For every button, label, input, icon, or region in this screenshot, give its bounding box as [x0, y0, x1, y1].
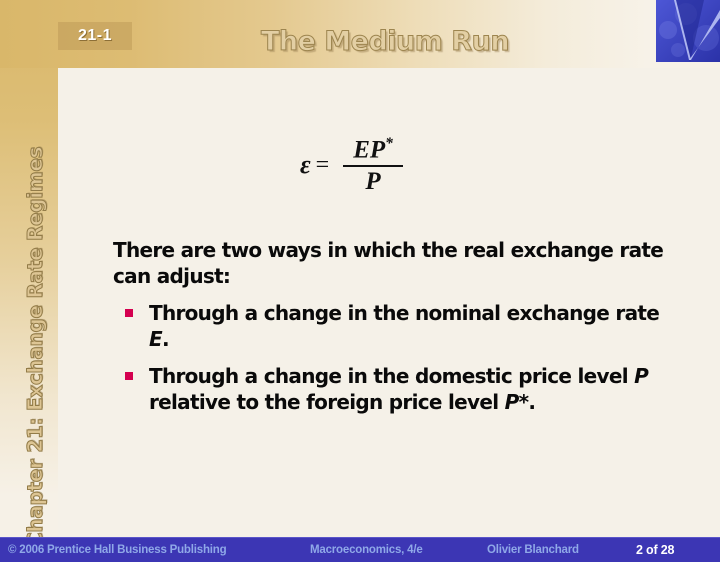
formula-denominator: P	[355, 167, 390, 195]
sidebar-chapter-label: Chapter 21: Exchange Rate Regimes	[23, 77, 47, 547]
slide-canvas: 21-1 The Medium Run Chapter 21: Exchange…	[0, 0, 720, 562]
footer-copyright: © 2006 Prentice Hall Business Publishing	[8, 544, 226, 556]
slide-footer: © 2006 Prentice Hall Business Publishing…	[0, 537, 720, 562]
formula-fraction: EP* P	[343, 136, 403, 195]
bullet-2-italic-P-star: P*	[505, 390, 529, 414]
formula-epsilon-symbol: ε	[300, 150, 311, 180]
bullet-list: Through a change in the nominal exchange…	[113, 300, 673, 416]
bullet-1-text-before: Through a change in the nominal exchange…	[149, 301, 659, 325]
square-bullet-icon	[125, 372, 133, 380]
formula-numerator: EP*	[343, 136, 403, 165]
chapter-badge-label: 21-1	[78, 27, 112, 45]
real-exchange-rate-formula: ε = EP* P	[300, 136, 403, 195]
slide-body: There are two ways in which the real exc…	[113, 237, 673, 425]
chapter-badge: 21-1	[58, 22, 132, 50]
lead-paragraph: There are two ways in which the real exc…	[113, 237, 673, 290]
decorative-blue-block-icon	[656, 0, 720, 62]
bullet-2-text-before: Through a change in the domestic price l…	[149, 364, 634, 388]
slide-title: The Medium Run	[150, 26, 620, 57]
square-bullet-icon	[125, 309, 133, 317]
bullet-1-italic-E: E	[149, 327, 162, 351]
bullet-2-text-middle: relative to the foreign price level	[149, 390, 505, 414]
list-item: Through a change in the nominal exchange…	[113, 300, 673, 353]
footer-author: Olivier Blanchard	[487, 544, 579, 556]
formula-equals-sign: =	[316, 152, 330, 179]
list-item: Through a change in the domestic price l…	[113, 363, 673, 416]
footer-page-number: 2 of 28	[636, 543, 674, 557]
bullet-1-text-after: .	[162, 327, 169, 351]
footer-book-title: Macroeconomics, 4/e	[310, 544, 423, 556]
bullet-2-text-after: .	[528, 390, 535, 414]
formula-numerator-base: EP	[353, 136, 385, 163]
formula-numerator-superscript: *	[385, 135, 393, 152]
bullet-2-italic-P: P	[634, 364, 648, 388]
